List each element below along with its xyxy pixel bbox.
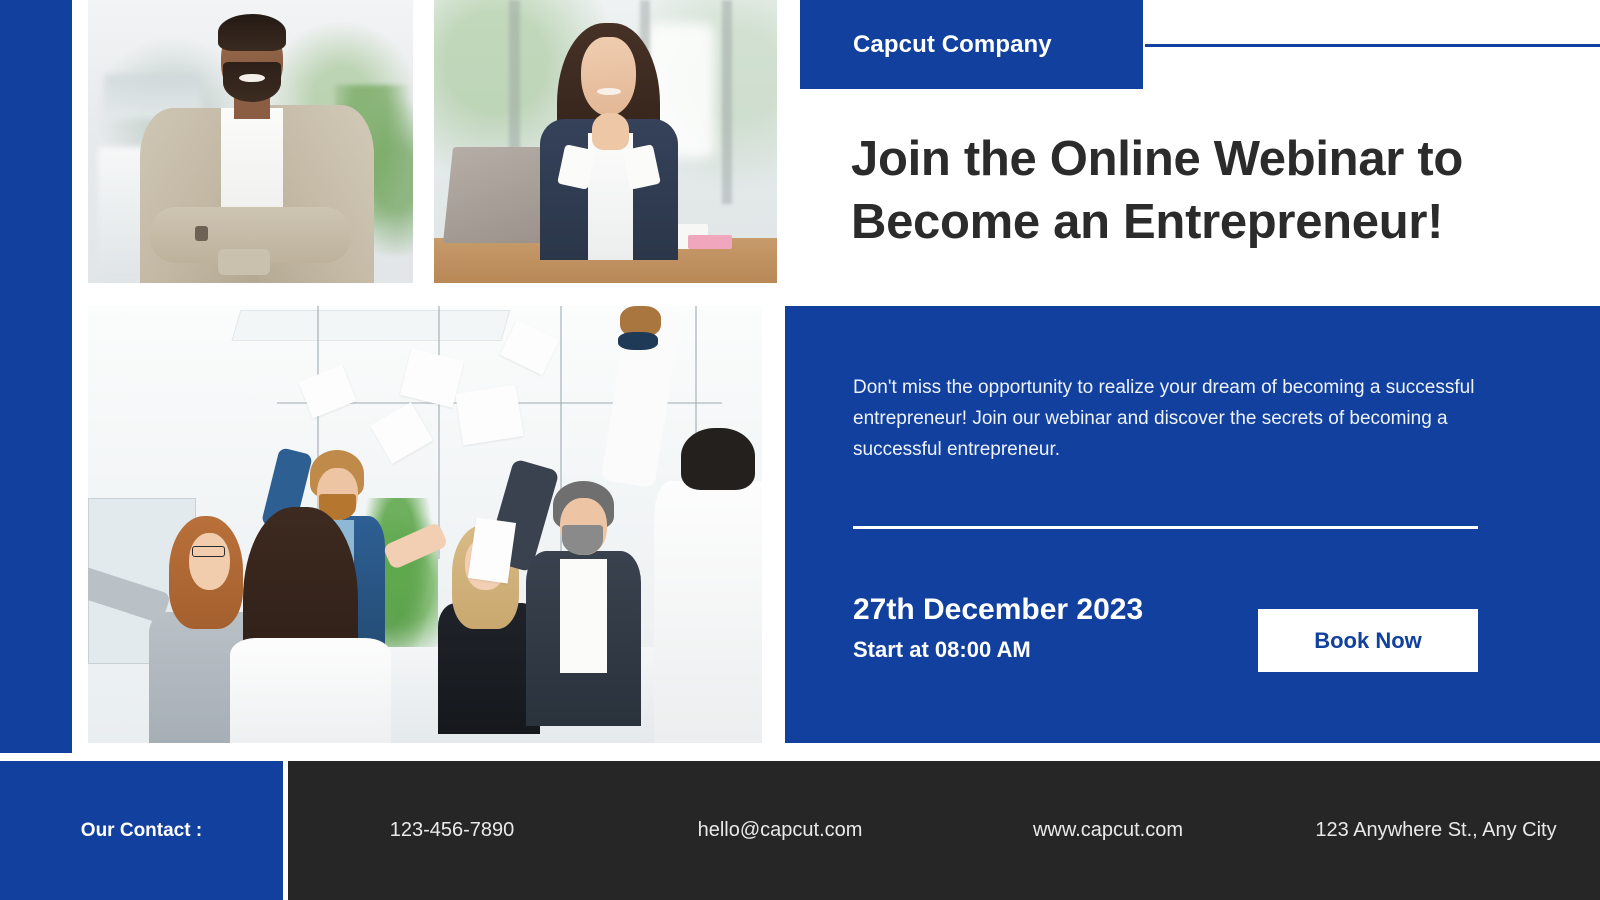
footer-phone[interactable]: 123-456-7890 xyxy=(288,819,616,842)
footer-email[interactable]: hello@capcut.com xyxy=(616,819,944,842)
header-rule xyxy=(1145,44,1600,47)
brand-name: Capcut Company xyxy=(853,31,1052,59)
photo-smiling-businessman xyxy=(88,0,413,283)
left-accent-strip xyxy=(0,0,72,753)
event-date: 27th December 2023 xyxy=(853,593,1143,627)
brand-block: Capcut Company xyxy=(800,0,1143,89)
photo-businesswoman-laptop xyxy=(434,0,777,283)
footer-contact-bar: 123-456-7890 hello@capcut.com www.capcut… xyxy=(288,761,1600,900)
book-now-button[interactable]: Book Now xyxy=(1258,609,1478,672)
page-title: Join the Online Webinar to Become an Ent… xyxy=(851,128,1551,253)
info-panel: Don't miss the opportunity to realize yo… xyxy=(785,306,1600,743)
footer-address: 123 Anywhere St., Any City xyxy=(1272,819,1600,842)
footer-website[interactable]: www.capcut.com xyxy=(944,819,1272,842)
webinar-poster: Capcut Company Join the Online Webinar t… xyxy=(0,0,1600,900)
info-description: Don't miss the opportunity to realize yo… xyxy=(853,373,1493,466)
footer-contact-label: Our Contact : xyxy=(81,820,202,842)
footer-contact-label-block: Our Contact : xyxy=(0,761,283,900)
photo-team-celebration xyxy=(88,306,762,743)
event-time: Start at 08:00 AM xyxy=(853,637,1031,663)
info-divider xyxy=(853,526,1478,529)
